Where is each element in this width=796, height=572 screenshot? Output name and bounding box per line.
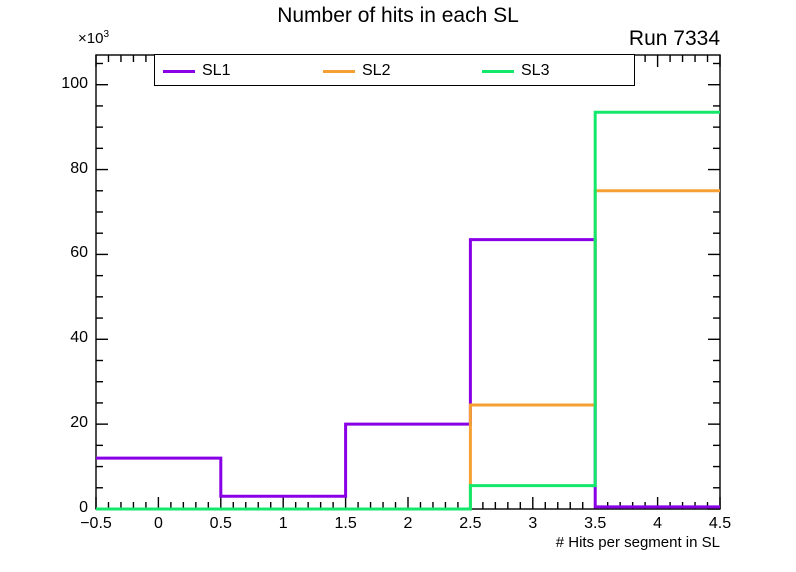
legend-label: SL1	[202, 62, 230, 80]
y-tick-label: 20	[48, 414, 88, 432]
x-tick-label: 3.5	[565, 515, 625, 533]
x-tick-label: 1.5	[316, 515, 376, 533]
x-tick-label: 2.5	[440, 515, 500, 533]
legend-label: SL3	[521, 62, 549, 80]
chart-canvas: Number of hits in each SL Run 7334 ×103 …	[0, 0, 796, 572]
legend-entry-sl2[interactable]: SL2	[323, 61, 390, 81]
legend-entry-sl1[interactable]: SL1	[163, 61, 230, 81]
x-tick-label: 0.5	[191, 515, 251, 533]
legend-swatch-sl2	[323, 70, 355, 73]
y-tick-label: 40	[48, 329, 88, 347]
x-tick-label: 2	[378, 515, 438, 533]
x-tick-label: 4.5	[690, 515, 750, 533]
y-tick-label: 60	[48, 244, 88, 262]
x-tick-label: 3	[503, 515, 563, 533]
legend[interactable]: SL1SL2SL3	[154, 54, 635, 86]
legend-label: SL2	[362, 62, 390, 80]
x-tick-label: 0	[128, 515, 188, 533]
legend-entry-sl3[interactable]: SL3	[482, 61, 549, 81]
legend-swatch-sl1	[163, 70, 195, 73]
y-tick-label: 100	[48, 75, 88, 93]
x-tick-label: −0.5	[66, 515, 126, 533]
x-tick-label: 4	[628, 515, 688, 533]
plot-frame	[96, 55, 720, 509]
x-tick-label: 1	[253, 515, 313, 533]
legend-swatch-sl3	[482, 70, 514, 73]
y-tick-label: 80	[48, 160, 88, 178]
